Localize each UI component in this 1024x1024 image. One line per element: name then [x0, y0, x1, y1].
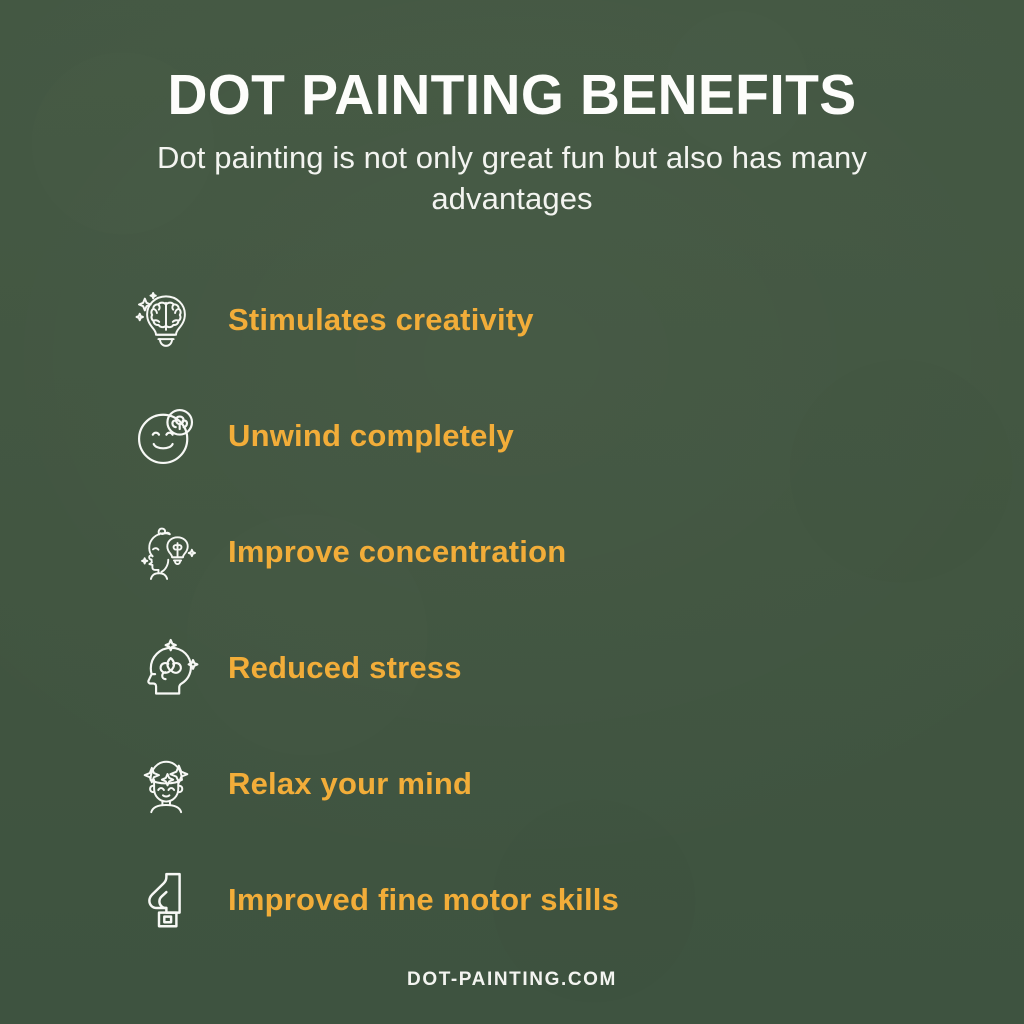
benefit-label: Unwind completely: [228, 418, 514, 454]
list-item: Stimulates creativity: [130, 272, 930, 368]
page-subtitle: Dot painting is not only great fun but a…: [142, 138, 882, 220]
benefit-label: Reduced stress: [228, 650, 462, 686]
head-profile-lightbulb-icon: [130, 516, 202, 588]
benefit-label: Relax your mind: [228, 766, 472, 802]
poster-header: DOT PAINTING BENEFITS Dot painting is no…: [0, 66, 1024, 220]
benefit-label: Stimulates creativity: [228, 302, 534, 338]
list-item: Improve concentration: [130, 504, 930, 600]
website-url: DOT-PAINTING.COM: [407, 969, 617, 990]
list-item: Unwind completely: [130, 388, 930, 484]
benefits-list: Stimulates creativity: [130, 272, 930, 968]
smiling-face-flower-icon: [130, 400, 202, 472]
lightbulb-brain-icon: [130, 284, 202, 356]
poster-footer: DOT-PAINTING.COM: [0, 969, 1024, 991]
list-item: Reduced stress: [130, 620, 930, 716]
hand-holding-object-icon: [130, 864, 202, 936]
head-profile-lotus-icon: [130, 632, 202, 704]
benefit-label: Improved fine motor skills: [228, 882, 619, 918]
infographic-poster: DOT PAINTING BENEFITS Dot painting is no…: [0, 0, 1024, 1024]
calm-face-stars-icon: [130, 748, 202, 820]
list-item: Improved fine motor skills: [130, 852, 930, 948]
list-item: Relax your mind: [130, 736, 930, 832]
benefit-label: Improve concentration: [228, 534, 566, 570]
page-title: DOT PAINTING BENEFITS: [15, 66, 1008, 124]
